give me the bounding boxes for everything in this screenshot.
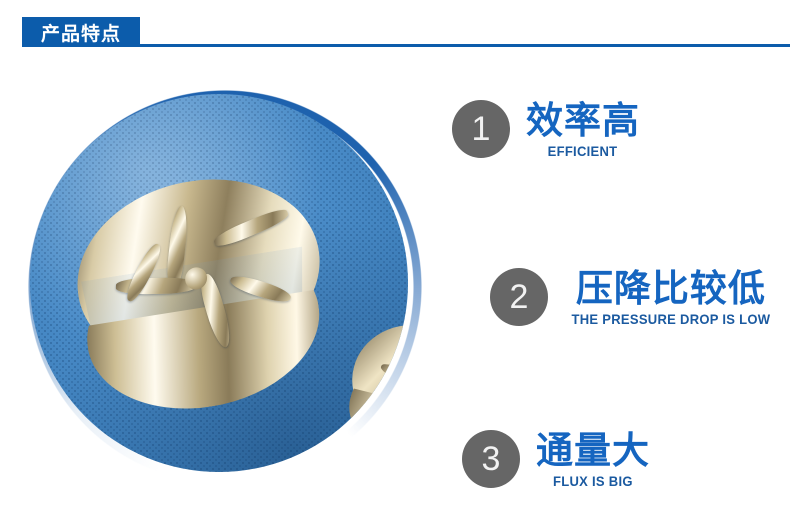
feature-item-2: 2 压降比较低 THE PRESSURE DROP IS LOW: [490, 268, 778, 327]
feature-title-en: THE PRESSURE DROP IS LOW: [571, 311, 770, 327]
feature-item-3: 3 通量大 FLUX IS BIG: [462, 430, 650, 489]
section-title-banner: 产品特点: [22, 17, 140, 47]
pall-ring-primary: [65, 134, 319, 401]
feature-list: 1 效率高 EFFICIENT 2 压降比较低 THE PRESSURE DRO…: [440, 62, 790, 531]
product-photo-panel: [0, 62, 450, 531]
feature-number-badge: 3: [462, 430, 520, 488]
feature-title-en: EFFICIENT: [548, 143, 618, 159]
feature-text-block: 效率高 EFFICIENT: [526, 100, 640, 159]
feature-title-cn: 效率高: [526, 102, 640, 141]
feature-item-1: 1 效率高 EFFICIENT: [452, 100, 640, 159]
feature-title-cn: 压降比较低: [576, 270, 766, 309]
feature-title-cn: 通量大: [536, 432, 650, 471]
page-header: 产品特点: [0, 0, 790, 60]
product-photo-circle: [30, 94, 408, 472]
feature-title-en: FLUX IS BIG: [553, 473, 633, 489]
feature-text-block: 通量大 FLUX IS BIG: [536, 430, 650, 489]
feature-number-badge: 2: [490, 268, 548, 326]
feature-text-block: 压降比较低 THE PRESSURE DROP IS LOW: [564, 268, 778, 327]
feature-number-badge: 1: [452, 100, 510, 158]
header-divider-line: [140, 44, 790, 47]
